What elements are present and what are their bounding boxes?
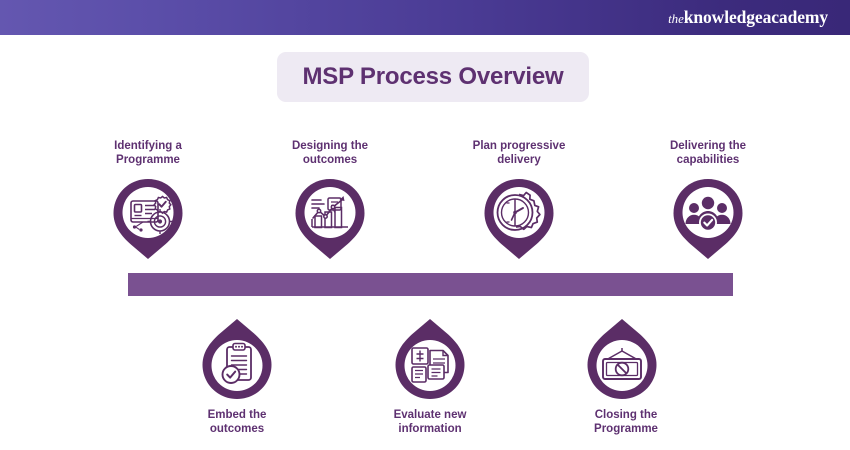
- label-line-2: Programme: [551, 422, 701, 436]
- brand-logo: theknowledgeacademy: [668, 9, 828, 27]
- label-designing-the-outcomes: Designing the outcomes: [255, 139, 405, 167]
- label-delivering-the-capabilities: Delivering the capabilities: [633, 139, 783, 167]
- label-line-1: Embed the: [162, 408, 312, 422]
- pin-closing-the-programme[interactable]: [584, 319, 660, 401]
- label-line-1: Evaluate new: [355, 408, 505, 422]
- label-line-2: Programme: [73, 153, 223, 167]
- label-line-2: outcomes: [255, 153, 405, 167]
- page-title-pill: MSP Process Overview: [277, 52, 589, 102]
- label-line-1: Closing the: [551, 408, 701, 422]
- pin-designing-the-outcomes[interactable]: [292, 177, 368, 261]
- label-line-1: Designing the: [255, 139, 405, 153]
- process-flow-bar: [128, 273, 733, 296]
- label-plan-progressive-delivery: Plan progressive delivery: [444, 139, 594, 167]
- page-header: theknowledgeacademy: [0, 0, 850, 35]
- label-evaluate-new-information: Evaluate new information: [355, 408, 505, 436]
- brand-logo-the: the: [668, 11, 684, 26]
- label-line-1: Identifying a: [73, 139, 223, 153]
- label-line-1: Plan progressive: [444, 139, 594, 153]
- brand-logo-main: knowledgeacademy: [684, 7, 828, 27]
- label-line-2: outcomes: [162, 422, 312, 436]
- label-closing-the-programme: Closing the Programme: [551, 408, 701, 436]
- label-identifying-a-programme: Identifying a Programme: [73, 139, 223, 167]
- pin-embed-the-outcomes[interactable]: [199, 319, 275, 401]
- pin-identifying-a-programme[interactable]: [110, 177, 186, 261]
- label-embed-the-outcomes: Embed the outcomes: [162, 408, 312, 436]
- pin-plan-progressive-delivery[interactable]: [481, 177, 557, 261]
- label-line-2: information: [355, 422, 505, 436]
- label-line-2: delivery: [444, 153, 594, 167]
- page-title: MSP Process Overview: [302, 63, 563, 91]
- pin-evaluate-new-information[interactable]: [392, 319, 468, 401]
- label-line-2: capabilities: [633, 153, 783, 167]
- pin-delivering-the-capabilities[interactable]: [670, 177, 746, 261]
- label-line-1: Delivering the: [633, 139, 783, 153]
